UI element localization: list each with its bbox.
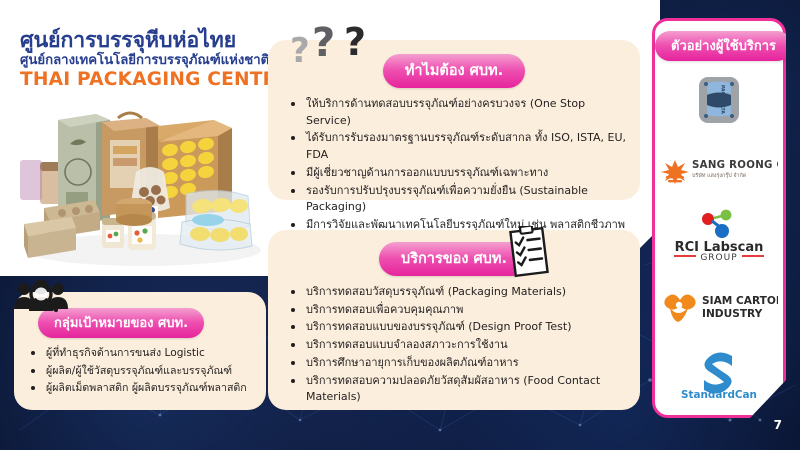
services-card-bullets: บริการทดสอบวัสดุบรรจุภัณฑ์ (Packaging Ma…	[268, 284, 640, 406]
subtitle-thai: ศูนย์กลางเทคโนโลยีการบรรจุภัณฑ์แห่งชาติ	[20, 54, 270, 68]
siam-carton-industry-logo: SIAM CARTON INDUSTRY	[659, 276, 779, 338]
svg-text:SIAM CARTON: SIAM CARTON	[702, 295, 778, 307]
title-english: THAI PACKAGING CENTRE	[20, 70, 270, 90]
why-card-bullets: ให้บริการด้านทดสอบบรรจุภัณฑ์อย่างครบวงจร…	[268, 96, 640, 250]
list-item: ผู้ผลิต/ผู้ใช้วัสดุบรรจุภัณฑ์และบรรจุภัณ…	[26, 363, 252, 380]
clients-panel-heading: ตัวอย่างผู้ใช้บริการ	[655, 31, 792, 61]
standard-can-logo: StandardCan	[659, 345, 779, 407]
target-card-bullets: ผู้ที่ทำธุรกิจด้านการขนส่ง Logistic ผู้ผ…	[14, 345, 266, 397]
clients-panel-heading-row: ตัวอย่างผู้ใช้บริการ	[655, 21, 783, 61]
clipboard-checklist-icon	[508, 226, 550, 278]
svg-text:?: ?	[312, 22, 335, 66]
page-title: ศูนย์การบรรจุหีบห่อไทย ศูนย์กลางเทคโนโลย…	[20, 30, 270, 89]
services-card: บริการของ ศบท. บริการทดสอบวัสดุบรรจุภัณฑ…	[268, 230, 640, 410]
list-item: บริการทดสอบความปลอดภัยวัสดุสัมผัสอาหาร (…	[286, 373, 626, 406]
svg-text:?: ?	[290, 31, 310, 68]
sang-roong-group-logo: SANG ROONG GROUP บริษัท แสงรุ่งกรุ๊ป จำก…	[659, 138, 779, 200]
packaging-products-photo	[18, 100, 268, 272]
svg-text:INDUSTRY: INDUSTRY	[702, 308, 763, 320]
list-item: บริการทดสอบเพื่อควบคุมคุณภาพ	[286, 302, 626, 319]
clients-panel: ตัวอย่างผู้ใช้บริการ PACKDELTA SANG ROON…	[652, 18, 786, 418]
svg-text:SANG ROONG GROUP: SANG ROONG GROUP	[692, 160, 778, 171]
list-item: บริการทดสอบแบบจำลองสภาวะการใช้งาน	[286, 337, 626, 354]
list-item: รองรับการปรับปรุงบรรจุภัณฑ์เพื่อความยั่ง…	[286, 183, 626, 216]
list-item: ได้รับการรับรองมาตรฐานบรรจุภัณฑ์ระดับสาก…	[286, 130, 626, 163]
list-item: ผู้ผลิตเม็ดพลาสติก ผู้ผลิตบรรจุภัณฑ์พลาส…	[26, 380, 252, 397]
svg-text:บริษัท แสงรุ่งกรุ๊ป จำกัด: บริษัท แสงรุ่งกรุ๊ป จำกัด	[692, 172, 747, 179]
packdelta-logo: PACKDELTA	[659, 69, 779, 131]
question-marks-icon: ? ? ?	[290, 22, 382, 68]
list-item: บริการทดสอบแบบของบรรจุภัณฑ์ (Design Proo…	[286, 319, 626, 336]
why-card-heading: ทำไมต้อง ศบท.	[383, 54, 525, 88]
list-item: มีผู้เชี่ยวชาญด้านการออกแบบบรรจุภัณฑ์เฉพ…	[286, 165, 626, 182]
services-card-heading: บริการของ ศบท.	[379, 242, 529, 276]
list-item: ให้บริการด้านทดสอบบรรจุภัณฑ์อย่างครบวงจร…	[286, 96, 626, 129]
list-item: บริการศึกษาอายุการเก็บของผลิตภัณฑ์อาหาร	[286, 355, 626, 372]
services-card-heading-row: บริการของ ศบท.	[268, 230, 640, 276]
title-thai: ศูนย์การบรรจุหีบห่อไทย	[20, 30, 270, 53]
people-search-icon	[12, 277, 70, 317]
svg-text:StandardCan: StandardCan	[681, 389, 757, 401]
svg-text:GROUP: GROUP	[700, 253, 737, 263]
client-logo-list: PACKDELTA SANG ROONG GROUP บริษัท แสงรุ่…	[655, 61, 783, 407]
list-item: บริการทดสอบวัสดุบรรจุภัณฑ์ (Packaging Ma…	[286, 284, 626, 301]
page-number: 7	[774, 418, 782, 432]
rci-labscan-group-logo: RCI Labscan GROUP	[659, 207, 779, 269]
list-item: ผู้ที่ทำธุรกิจด้านการขนส่ง Logistic	[26, 345, 252, 362]
svg-text:?: ?	[344, 22, 366, 64]
